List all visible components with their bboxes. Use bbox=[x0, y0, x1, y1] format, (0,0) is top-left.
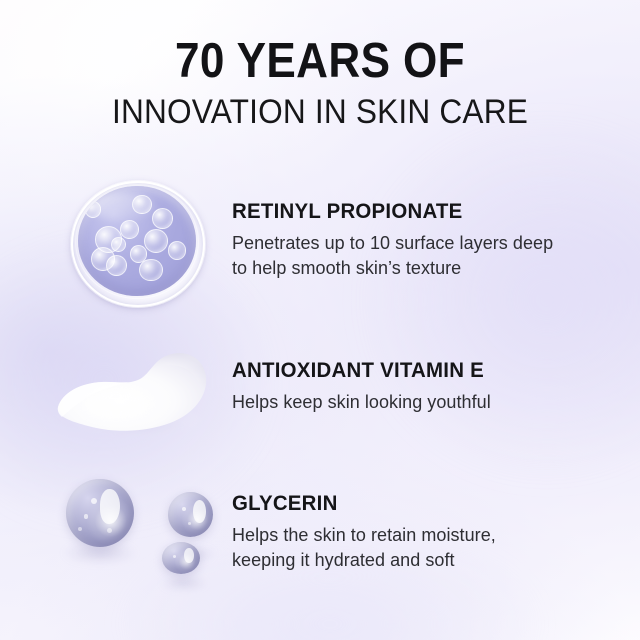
droplet-sparkle bbox=[182, 507, 186, 511]
ingredient-description: Helps keep skin looking youthful bbox=[232, 390, 562, 415]
droplet-medium bbox=[168, 492, 213, 537]
droplet-shadow bbox=[160, 576, 208, 590]
cream-swoosh-swatch bbox=[54, 345, 214, 437]
glycerin-droplets-swatch bbox=[56, 470, 226, 600]
ingredient-description: Helps the skin to retain moisture, keepi… bbox=[232, 523, 562, 572]
ingredient-title: RETINYL PROPIONATE bbox=[232, 198, 574, 224]
ingredient-copy: RETINYL PROPIONATE Penetrates up to 10 s… bbox=[232, 198, 592, 280]
glycerin-droplets-icon bbox=[40, 470, 220, 600]
ingredient-description: Penetrates up to 10 surface layers deep … bbox=[232, 231, 562, 280]
cream-swoosh-icon bbox=[40, 345, 220, 445]
ingredient-row-antioxidant-vitamin-e: ANTIOXIDANT VITAMIN E Helps keep skin lo… bbox=[0, 345, 640, 445]
headline-primary: 70 YEARS OF bbox=[32, 36, 608, 86]
droplet-highlight bbox=[193, 500, 206, 523]
petri-dish-rim bbox=[71, 181, 205, 307]
droplet-highlight bbox=[184, 548, 194, 563]
droplet-sparkle bbox=[78, 527, 82, 531]
headline-secondary: INNOVATION IN SKIN CARE bbox=[22, 93, 617, 131]
droplet-small bbox=[162, 542, 200, 574]
petri-dish-icon bbox=[40, 178, 220, 318]
droplet-large bbox=[66, 479, 134, 547]
headline-block: 70 YEARS OF INNOVATION IN SKIN CARE bbox=[0, 36, 640, 131]
ingredient-row-glycerin: GLYCERIN Helps the skin to retain moistu… bbox=[0, 470, 640, 600]
droplet-small-body bbox=[162, 542, 200, 574]
droplet-medium-body bbox=[168, 492, 213, 537]
ingredient-title: ANTIOXIDANT VITAMIN E bbox=[232, 357, 574, 383]
ingredient-copy: GLYCERIN Helps the skin to retain moistu… bbox=[232, 490, 592, 572]
cream-center-highlight bbox=[82, 390, 150, 420]
ingredient-title: GLYCERIN bbox=[232, 490, 574, 516]
ingredient-row-retinyl-propionate: RETINYL PROPIONATE Penetrates up to 10 s… bbox=[0, 178, 640, 318]
cream-swoosh-shape bbox=[54, 345, 214, 437]
marketing-graphic: 70 YEARS OF INNOVATION IN SKIN CARE bbox=[0, 0, 640, 640]
petri-dish-swatch bbox=[70, 180, 206, 308]
ingredient-copy: ANTIOXIDANT VITAMIN E Helps keep skin lo… bbox=[232, 357, 592, 415]
